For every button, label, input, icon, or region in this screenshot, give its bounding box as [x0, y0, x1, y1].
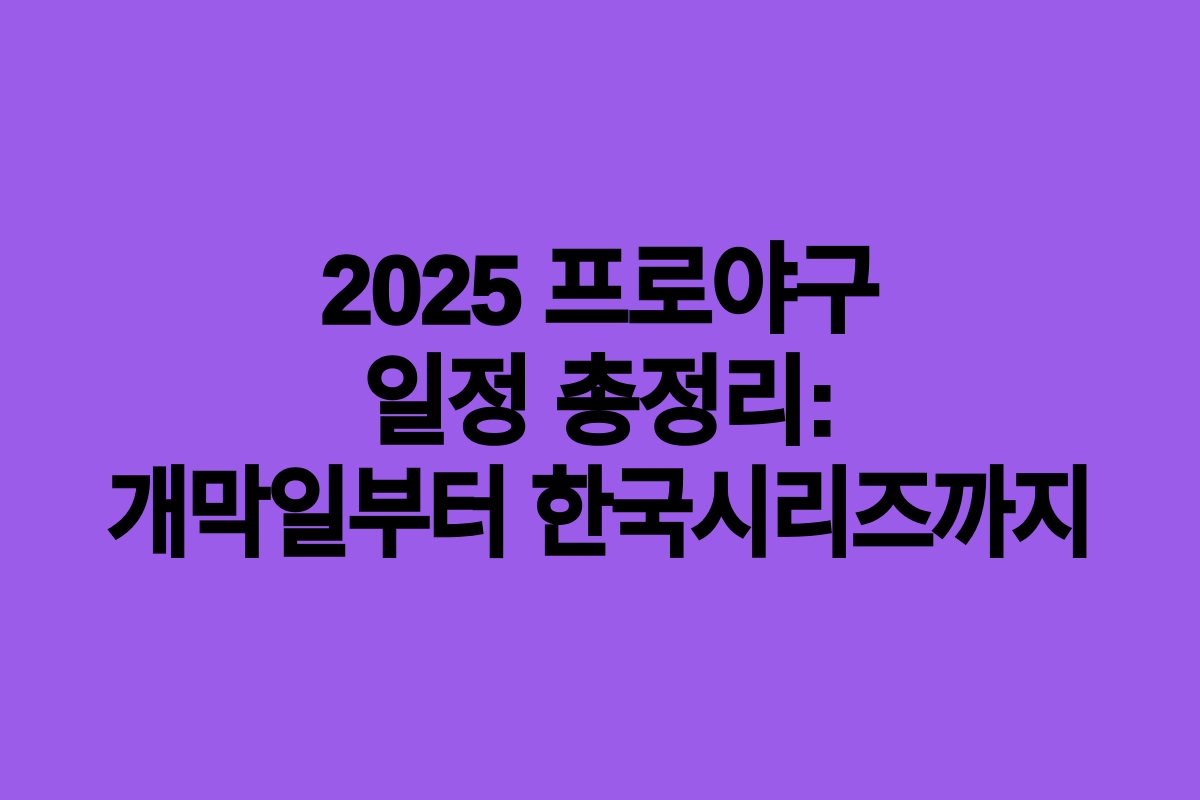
title-line-1: 2025 프로야구: [18, 235, 1182, 347]
banner-card: 2025 프로야구 일정 총정리: 개막일부터 한국시리즈까지: [0, 0, 1200, 800]
title-line-3: 개막일부터 한국시리즈까지: [36, 459, 1164, 571]
title-block: 2025 프로야구 일정 총정리: 개막일부터 한국시리즈까지: [0, 235, 1200, 571]
title-line-2: 일정 총정리:: [18, 347, 1182, 459]
